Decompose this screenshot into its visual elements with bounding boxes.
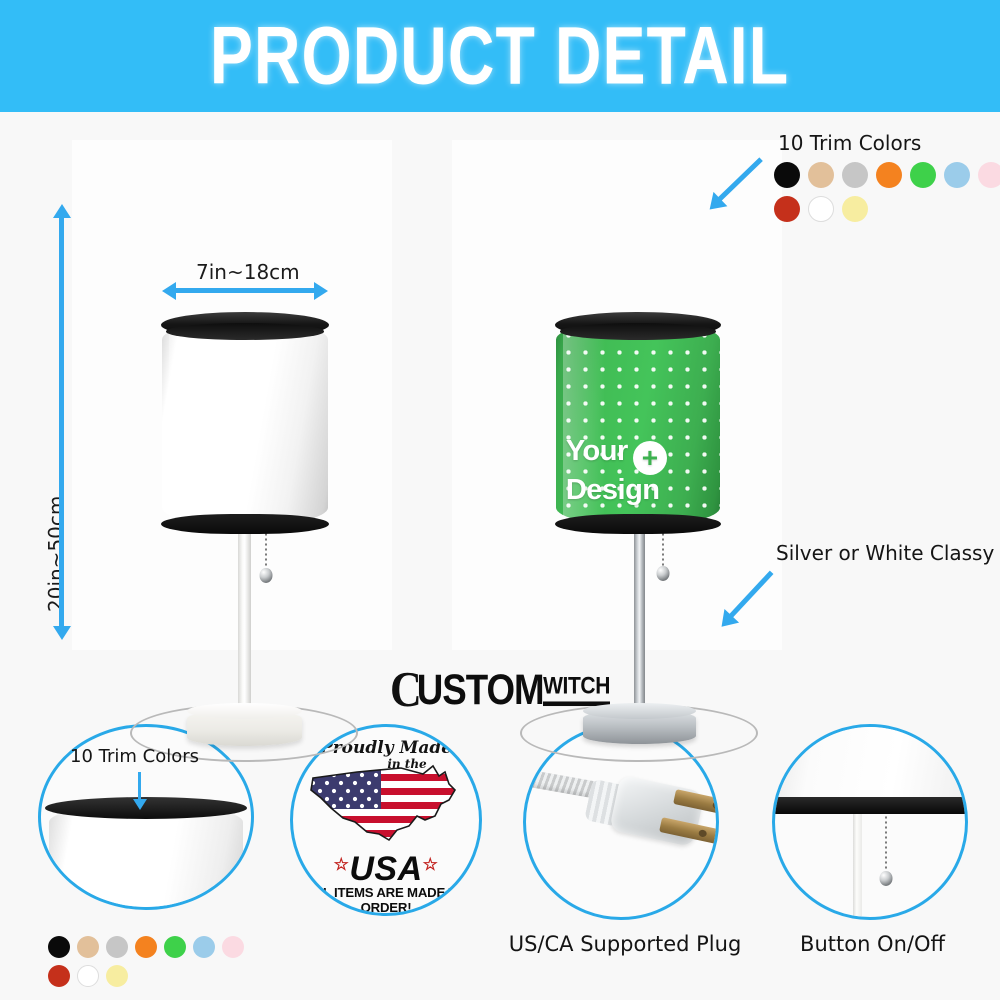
lampshade-white [162,321,328,526]
trim-color-swatch-red[interactable] [774,196,800,222]
lamp-base-top-silver [583,703,696,719]
usa-badge-subtext: ALL ITEMS ARE MADE TO ORDER! [293,885,479,915]
header-banner: PRODUCT DETAIL [0,0,1000,112]
pull-chain-green[interactable] [656,532,670,572]
lamp-base-top-white [187,703,302,719]
lampshade-closeup-white [49,805,243,910]
lampshade-trim-bottom [161,514,329,534]
width-dimension-label: 7in~18cm [196,260,300,284]
usa-badge-big-text: ☆USA☆ [293,850,479,889]
trim-color-swatch-white[interactable] [77,965,99,987]
usa-badge: Proudly Made in the [293,727,479,913]
trim-color-swatch-black[interactable] [48,936,70,958]
feature-circle-button-onoff [772,724,968,920]
brand-logo: C USTOM WITCH [0,664,1000,715]
pull-chain-white[interactable] [259,532,273,574]
trim-color-swatch-yellow[interactable] [842,196,868,222]
feature-button-caption: Button On/Off [760,932,985,956]
lamp-pole-white [238,530,251,720]
lamp-pole-silver [634,530,645,722]
trim-color-swatch-red[interactable] [48,965,70,987]
trim-color-swatch-light-blue[interactable] [944,162,970,188]
trim-color-swatch-pink[interactable] [978,162,1000,188]
trim-color-swatch-white[interactable] [808,196,834,222]
lampshade-trim-top [161,312,329,338]
logo-witch: WITCH [543,673,610,706]
trim-color-swatch-tan[interactable] [77,936,99,958]
trim-colors-title-top: 10 Trim Colors [778,131,921,155]
feature-plug-caption: US/CA Supported Plug [505,932,745,956]
usa-star-left: ☆ [334,855,350,874]
width-dimension-arrow [175,288,315,293]
lamp-pole-closeup [853,814,862,920]
usa-star-right: ☆ [423,855,439,874]
trim-color-swatches-top [774,162,1000,222]
height-dimension-arrow [59,217,64,627]
lamp-base-silver [583,710,696,744]
trim-color-swatches-bottom [48,936,262,987]
main-product-stage: 7in~18cm 20in~50cm [0,112,1000,660]
pull-chain-line-closeup [885,815,887,877]
lamp-base-white [187,710,302,746]
base-finish-label: Silver or White Classy [776,541,994,565]
trim-color-swatch-tan[interactable] [808,162,834,188]
pull-chain-bead [260,568,273,583]
trim-color-swatch-light-blue[interactable] [193,936,215,958]
pull-chain-bead-green [657,566,670,581]
pull-chain-closeup[interactable] [885,815,887,877]
logo-c-glyph: C [390,661,416,718]
feature-trim-colors-arrow [138,772,141,800]
lampshade-trim-closeup-button [772,797,968,814]
pull-chain-bead-closeup [880,871,893,886]
usa-label: USA [349,850,422,888]
feature-panels: 10 Trim Colors Proudly Made in the [0,712,1000,1000]
product-detail-page: PRODUCT DETAIL 7in~18cm 20in~50cm [0,0,1000,1000]
page-title: PRODUCT DETAIL [210,9,789,103]
trim-color-swatch-gray[interactable] [106,936,128,958]
design-line-1: Your [566,435,628,467]
trim-color-swatch-orange[interactable] [876,162,902,188]
lampshade-trim-bottom-green [555,514,721,534]
trim-color-swatch-green[interactable] [910,162,936,188]
logo-custom: USTOM [417,665,544,715]
trim-color-swatch-yellow[interactable] [106,965,128,987]
trim-color-swatch-gray[interactable] [842,162,868,188]
trim-color-swatch-green[interactable] [164,936,186,958]
your-design-placeholder: Your+ Design [566,436,667,505]
add-design-plus-icon[interactable]: + [633,441,667,475]
lampshade-surface-white [162,321,328,526]
usa-map-flag-icon [305,760,465,846]
trim-color-swatch-pink[interactable] [222,936,244,958]
height-dimension-label: 20in~50cm [44,496,68,612]
trim-color-swatch-black[interactable] [774,162,800,188]
lampshade-green: Your+ Design [556,321,720,526]
lampshade-closeup-button [772,724,968,801]
trim-color-swatch-orange[interactable] [135,936,157,958]
lampshade-trim-top-green [555,312,721,338]
design-line-2: Design [566,474,660,506]
feature-trim-colors-title: 10 Trim Colors [70,746,199,767]
